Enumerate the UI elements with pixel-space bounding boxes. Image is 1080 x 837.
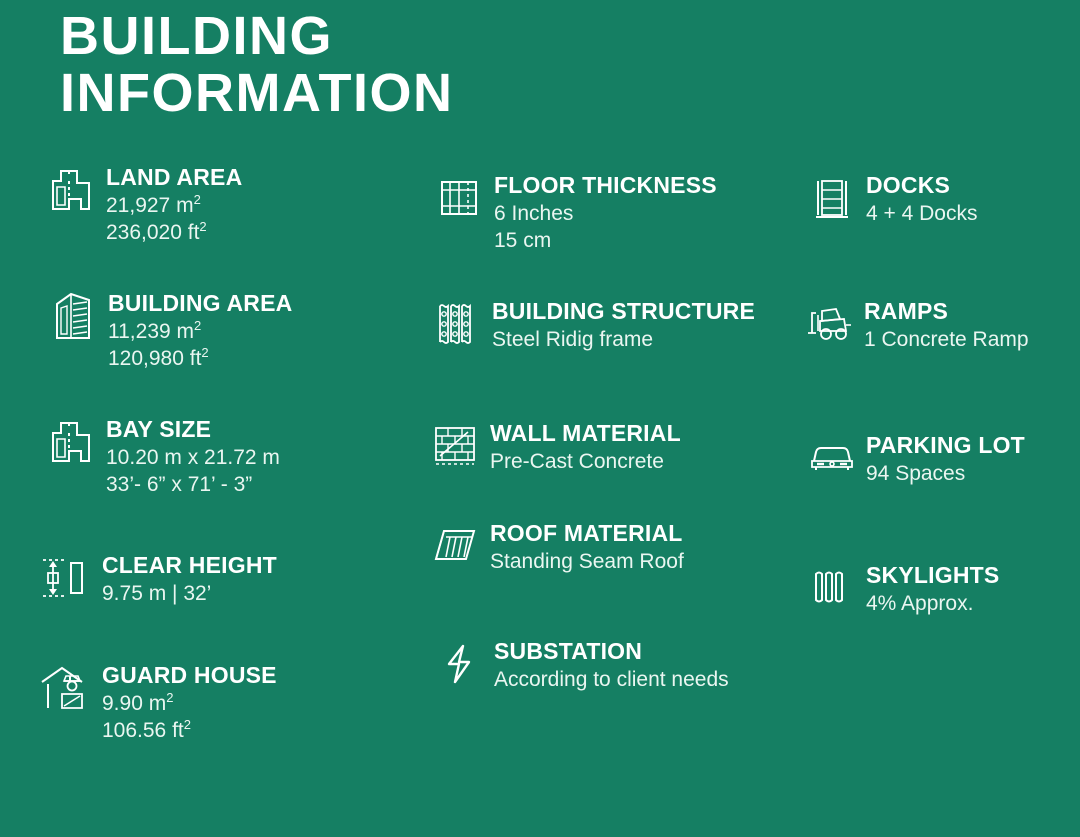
info-item-texts: SUBSTATION According to client needs: [494, 638, 729, 692]
info-item-texts: CLEAR HEIGHT 9.75 m | 32’: [98, 552, 277, 606]
page-title-line-1: BUILDING: [60, 8, 700, 65]
info-item-texts: BUILDING AREA 11,239 m2 120,980 ft2: [108, 290, 292, 372]
info-item-guard-house: GUARD HOUSE 9.90 m2 106.56 ft2: [36, 662, 277, 744]
info-item-value-1: 21,927 m2: [106, 193, 242, 219]
info-item-texts: FLOOR THICKNESS 6 Inches 15 cm: [494, 172, 717, 254]
info-item-label: ROOF MATERIAL: [490, 520, 683, 546]
value-text: 236,020 ft: [106, 221, 199, 244]
info-item-ramps: RAMPS 1 Concrete Ramp: [804, 298, 1029, 352]
value-superscript: 2: [194, 192, 201, 207]
brick-wall-icon: [428, 420, 482, 470]
info-item-texts: DOCKS 4 + 4 Docks: [866, 172, 977, 226]
building-information-infographic: { "title": { "line1": "BUILDING", "line2…: [0, 0, 1080, 837]
page-title: BUILDING INFORMATION: [60, 8, 700, 121]
value-superscript: 2: [194, 318, 201, 333]
info-item-value-1: 10.20 m x 21.72 m: [106, 445, 280, 471]
info-item-label: GUARD HOUSE: [102, 662, 277, 688]
info-item-value-1: Pre-Cast Concrete: [490, 449, 681, 475]
info-item-value-2: 236,020 ft2: [106, 220, 242, 246]
info-item-value-2: 33’- 6” x 71’ - 3”: [106, 472, 280, 498]
info-item-value-2: 120,980 ft2: [108, 346, 292, 372]
info-item-parking-lot: PARKING LOT 94 Spaces: [806, 432, 1025, 486]
floor-plan-icon: [44, 164, 98, 214]
info-item-building-area: BUILDING AREA 11,239 m2 120,980 ft2: [46, 290, 292, 372]
value-text: 120,980 ft: [108, 347, 201, 370]
info-item-texts: RAMPS 1 Concrete Ramp: [864, 298, 1029, 352]
info-item-value-1: 4% Approx.: [866, 591, 999, 617]
car-icon: [806, 432, 858, 482]
value-superscript: 2: [199, 219, 206, 234]
value-superscript: 2: [166, 690, 173, 705]
info-item-label: WALL MATERIAL: [490, 420, 681, 446]
info-item-floor-thickness: FLOOR THICKNESS 6 Inches 15 cm: [432, 172, 717, 254]
info-item-texts: ROOF MATERIAL Standing Seam Roof: [490, 520, 684, 574]
info-item-value-2: 106.56 ft2: [102, 718, 277, 744]
lightning-bolt-icon: [432, 638, 486, 688]
floor-slab-icon: [432, 172, 486, 222]
info-item-bay-size: BAY SIZE 10.20 m x 21.72 m 33’- 6” x 71’…: [44, 416, 280, 498]
skylight-panel-icon: [806, 562, 858, 612]
info-item-texts: GUARD HOUSE 9.90 m2 106.56 ft2: [98, 662, 277, 744]
guard-house-icon: [36, 662, 90, 712]
height-measure-icon: [36, 552, 90, 602]
building-3d-icon: [46, 290, 100, 340]
value-superscript: 2: [201, 345, 208, 360]
info-item-label: BUILDING STRUCTURE: [492, 298, 755, 324]
info-item-value-1: According to client needs: [494, 667, 729, 693]
info-item-clear-height: CLEAR HEIGHT 9.75 m | 32’: [36, 552, 277, 606]
info-item-texts: WALL MATERIAL Pre-Cast Concrete: [490, 420, 681, 474]
info-item-texts: SKYLIGHTS 4% Approx.: [866, 562, 999, 616]
value-text: 11,239 m: [108, 320, 194, 343]
page-title-line-2: INFORMATION: [60, 65, 700, 122]
info-item-roof-material: ROOF MATERIAL Standing Seam Roof: [428, 520, 684, 574]
roof-panel-icon: [428, 520, 482, 570]
info-item-substation: SUBSTATION According to client needs: [432, 638, 729, 692]
info-item-label: SKYLIGHTS: [866, 562, 999, 588]
info-item-value-1: 94 Spaces: [866, 461, 1025, 487]
info-item-label: RAMPS: [864, 298, 948, 324]
value-text: 21,927 m: [106, 194, 194, 217]
info-item-value-1: 6 Inches: [494, 201, 717, 227]
info-item-value-1: 9.90 m2: [102, 691, 277, 717]
value-text: 9.90 m: [102, 692, 166, 715]
value-superscript: 2: [184, 717, 191, 732]
info-item-value-1: Standing Seam Roof: [490, 549, 684, 575]
info-item-label: BAY SIZE: [106, 416, 211, 442]
info-item-label: BUILDING AREA: [108, 290, 292, 316]
info-item-texts: PARKING LOT 94 Spaces: [866, 432, 1025, 486]
info-item-label: DOCKS: [866, 172, 950, 198]
dock-door-icon: [806, 172, 858, 222]
info-item-value-1: Steel Ridig frame: [492, 327, 755, 353]
info-columns: LAND AREA 21,927 m2 236,020 ft2 B: [0, 150, 1080, 820]
info-item-label: LAND AREA: [106, 164, 242, 190]
info-item-value-1: 1 Concrete Ramp: [864, 327, 1029, 353]
info-item-wall-material: WALL MATERIAL Pre-Cast Concrete: [428, 420, 681, 474]
info-item-value-2: 15 cm: [494, 228, 717, 254]
info-item-land-area: LAND AREA 21,927 m2 236,020 ft2: [44, 164, 242, 246]
info-item-label: SUBSTATION: [494, 638, 642, 664]
info-item-texts: BUILDING STRUCTURE Steel Ridig frame: [492, 298, 755, 352]
info-item-texts: BAY SIZE 10.20 m x 21.72 m 33’- 6” x 71’…: [106, 416, 280, 498]
info-item-building-structure: BUILDING STRUCTURE Steel Ridig frame: [430, 298, 755, 352]
info-item-texts: LAND AREA 21,927 m2 236,020 ft2: [106, 164, 242, 246]
info-item-value-1: 9.75 m | 32’: [102, 581, 277, 607]
info-item-label: CLEAR HEIGHT: [102, 552, 277, 578]
info-item-value-1: 11,239 m2: [108, 319, 292, 345]
info-item-label: PARKING LOT: [866, 432, 1025, 458]
info-item-label: FLOOR THICKNESS: [494, 172, 717, 198]
floor-plan-icon: [44, 416, 98, 466]
steel-beams-icon: [430, 298, 484, 348]
info-item-docks: DOCKS 4 + 4 Docks: [806, 172, 977, 226]
info-item-value-1: 4 + 4 Docks: [866, 201, 977, 227]
forklift-icon: [804, 298, 856, 348]
value-text: 106.56 ft: [102, 719, 184, 742]
info-item-skylights: SKYLIGHTS 4% Approx.: [806, 562, 999, 616]
